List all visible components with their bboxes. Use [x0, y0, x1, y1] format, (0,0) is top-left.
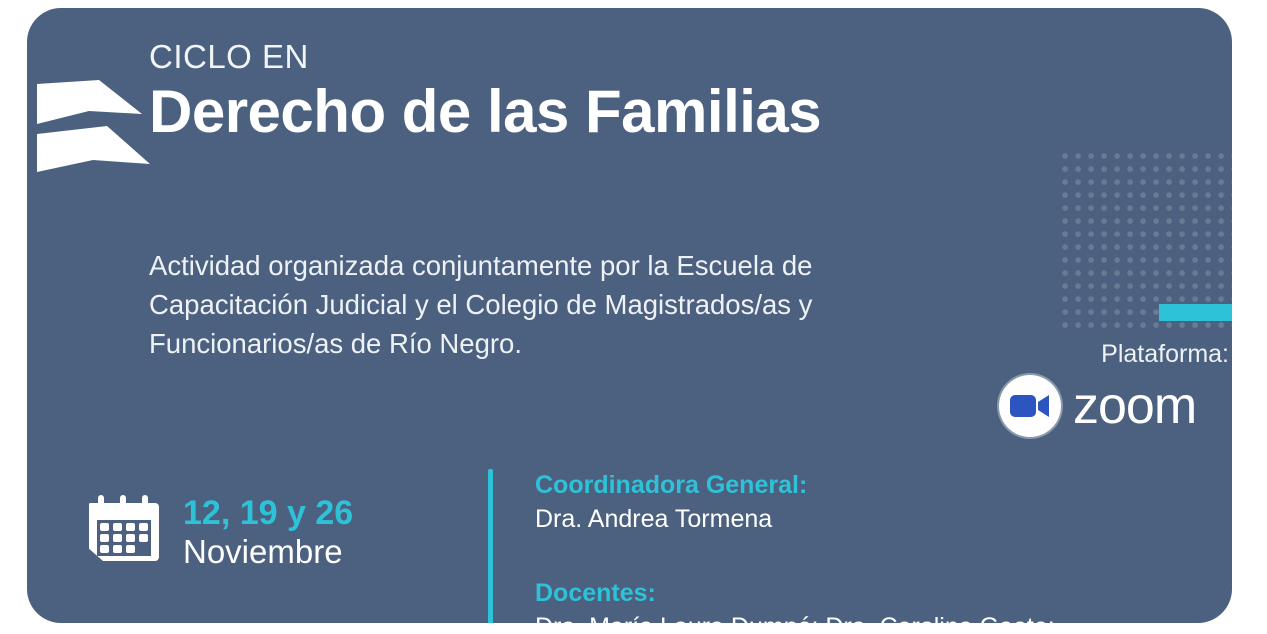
staff-group-coordinator: Coordinadora General: Dra. Andrea Tormen…	[535, 470, 1175, 536]
staff-heading: Coordinadora General:	[535, 470, 1175, 501]
poster-canvas: CICLO EN Derecho de las Familias Activid…	[0, 0, 1267, 634]
description-paragraph: Actividad organizada conjuntamente por l…	[149, 246, 959, 363]
platform-block: Plataforma: zoom	[987, 341, 1232, 437]
zoom-logo: zoom	[987, 375, 1232, 437]
description-line-1: Actividad organizada conjuntamente por l…	[149, 246, 959, 285]
staff-group-teachers: Docentes: Dra. María Laura Dumpé; Dra. C…	[535, 578, 1175, 623]
description-line-2: Capacitación Judicial y el Colegio de Ma…	[149, 285, 959, 324]
platform-label: Plataforma:	[987, 341, 1232, 369]
header: CICLO EN Derecho de las Familias	[149, 40, 1049, 145]
wave-flag-icon	[37, 80, 152, 172]
zoom-wordmark: zoom	[1073, 380, 1196, 432]
calendar-icon	[89, 494, 159, 570]
staff-value: Dra. Andrea Tormena	[535, 503, 1175, 536]
page-title: Derecho de las Familias	[149, 79, 1049, 145]
vertical-divider	[488, 469, 493, 623]
date-block: 12, 19 y 26 Noviembre	[89, 494, 353, 570]
date-text: 12, 19 y 26 Noviembre	[183, 495, 353, 569]
description-line-3: Funcionarios/as de Río Negro.	[149, 324, 959, 363]
eyebrow-label: CICLO EN	[149, 40, 1049, 75]
cyan-accent-bar	[1159, 304, 1232, 321]
staff-block: Coordinadora General: Dra. Andrea Tormen…	[535, 470, 1175, 623]
staff-value: Dra. María Laura Dumpé; Dra. Carolina Ga…	[535, 611, 1175, 623]
video-camera-icon	[1010, 393, 1050, 419]
date-days: 12, 19 y 26	[183, 495, 353, 532]
date-month: Noviembre	[183, 534, 353, 570]
staff-heading: Docentes:	[535, 578, 1175, 609]
zoom-badge	[999, 375, 1061, 437]
event-card: CICLO EN Derecho de las Familias Activid…	[27, 8, 1232, 623]
